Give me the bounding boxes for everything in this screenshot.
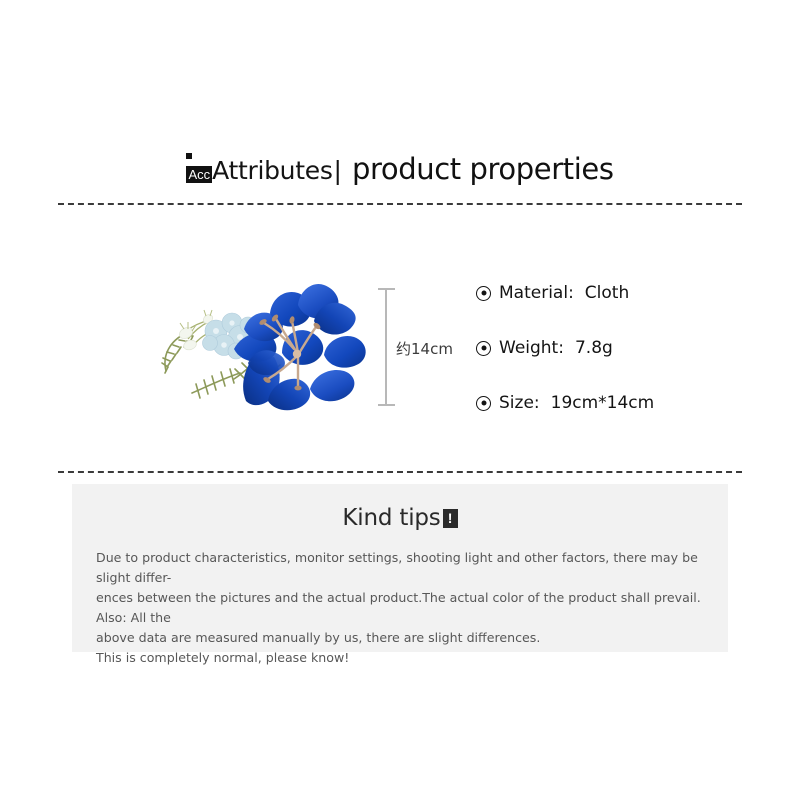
exclamation-icon: ! (443, 509, 458, 528)
tips-line-3: above data are measured manually by us, … (96, 628, 710, 648)
circled-dot-icon (476, 286, 491, 301)
tips-line-1: Due to product characteristics, monitor … (96, 548, 710, 588)
spec-list: Material: Cloth Weight: 7.8g Size: 19cm*… (476, 280, 776, 445)
circled-dot-icon (476, 341, 491, 356)
dimension-line (385, 288, 387, 406)
spec-label-material: Material: (499, 283, 574, 303)
page-title: Acc Attributes | product properties (0, 152, 800, 186)
circled-dot-icon (476, 396, 491, 411)
spec-value-weight: 7.8g (575, 338, 613, 358)
spec-label-weight: Weight: (499, 338, 564, 358)
divider-top (58, 203, 742, 205)
title-separator: | (333, 156, 343, 185)
spec-row-weight: Weight: 7.8g (476, 335, 776, 361)
attributes-label: Attributes (212, 156, 332, 185)
spec-value-material: Cloth (585, 283, 629, 303)
spec-label-size: Size: (499, 393, 540, 413)
attributes-badge: Acc (186, 166, 212, 183)
kind-tips-header: Kind tips ! (72, 505, 728, 531)
divider-bottom (58, 471, 742, 473)
spec-row-size: Size: 19cm*14cm (476, 390, 776, 416)
kind-tips-panel: Kind tips ! Due to product characteristi… (72, 484, 728, 652)
page-title-text: product properties (352, 152, 614, 186)
dimension-cap-bottom (378, 404, 395, 406)
spec-value-size: 19cm*14cm (551, 393, 655, 413)
title-marker: Acc (186, 166, 212, 184)
tips-line-2: ences between the pictures and the actua… (96, 588, 710, 628)
kind-tips-body: Due to product characteristics, monitor … (96, 548, 710, 668)
tips-line-4: This is completely normal, please know! (96, 648, 710, 668)
dimension-label: 约14cm (396, 338, 453, 359)
spec-row-material: Material: Cloth (476, 280, 776, 306)
kind-tips-title: Kind tips (342, 505, 440, 531)
title-square-icon (186, 153, 192, 159)
